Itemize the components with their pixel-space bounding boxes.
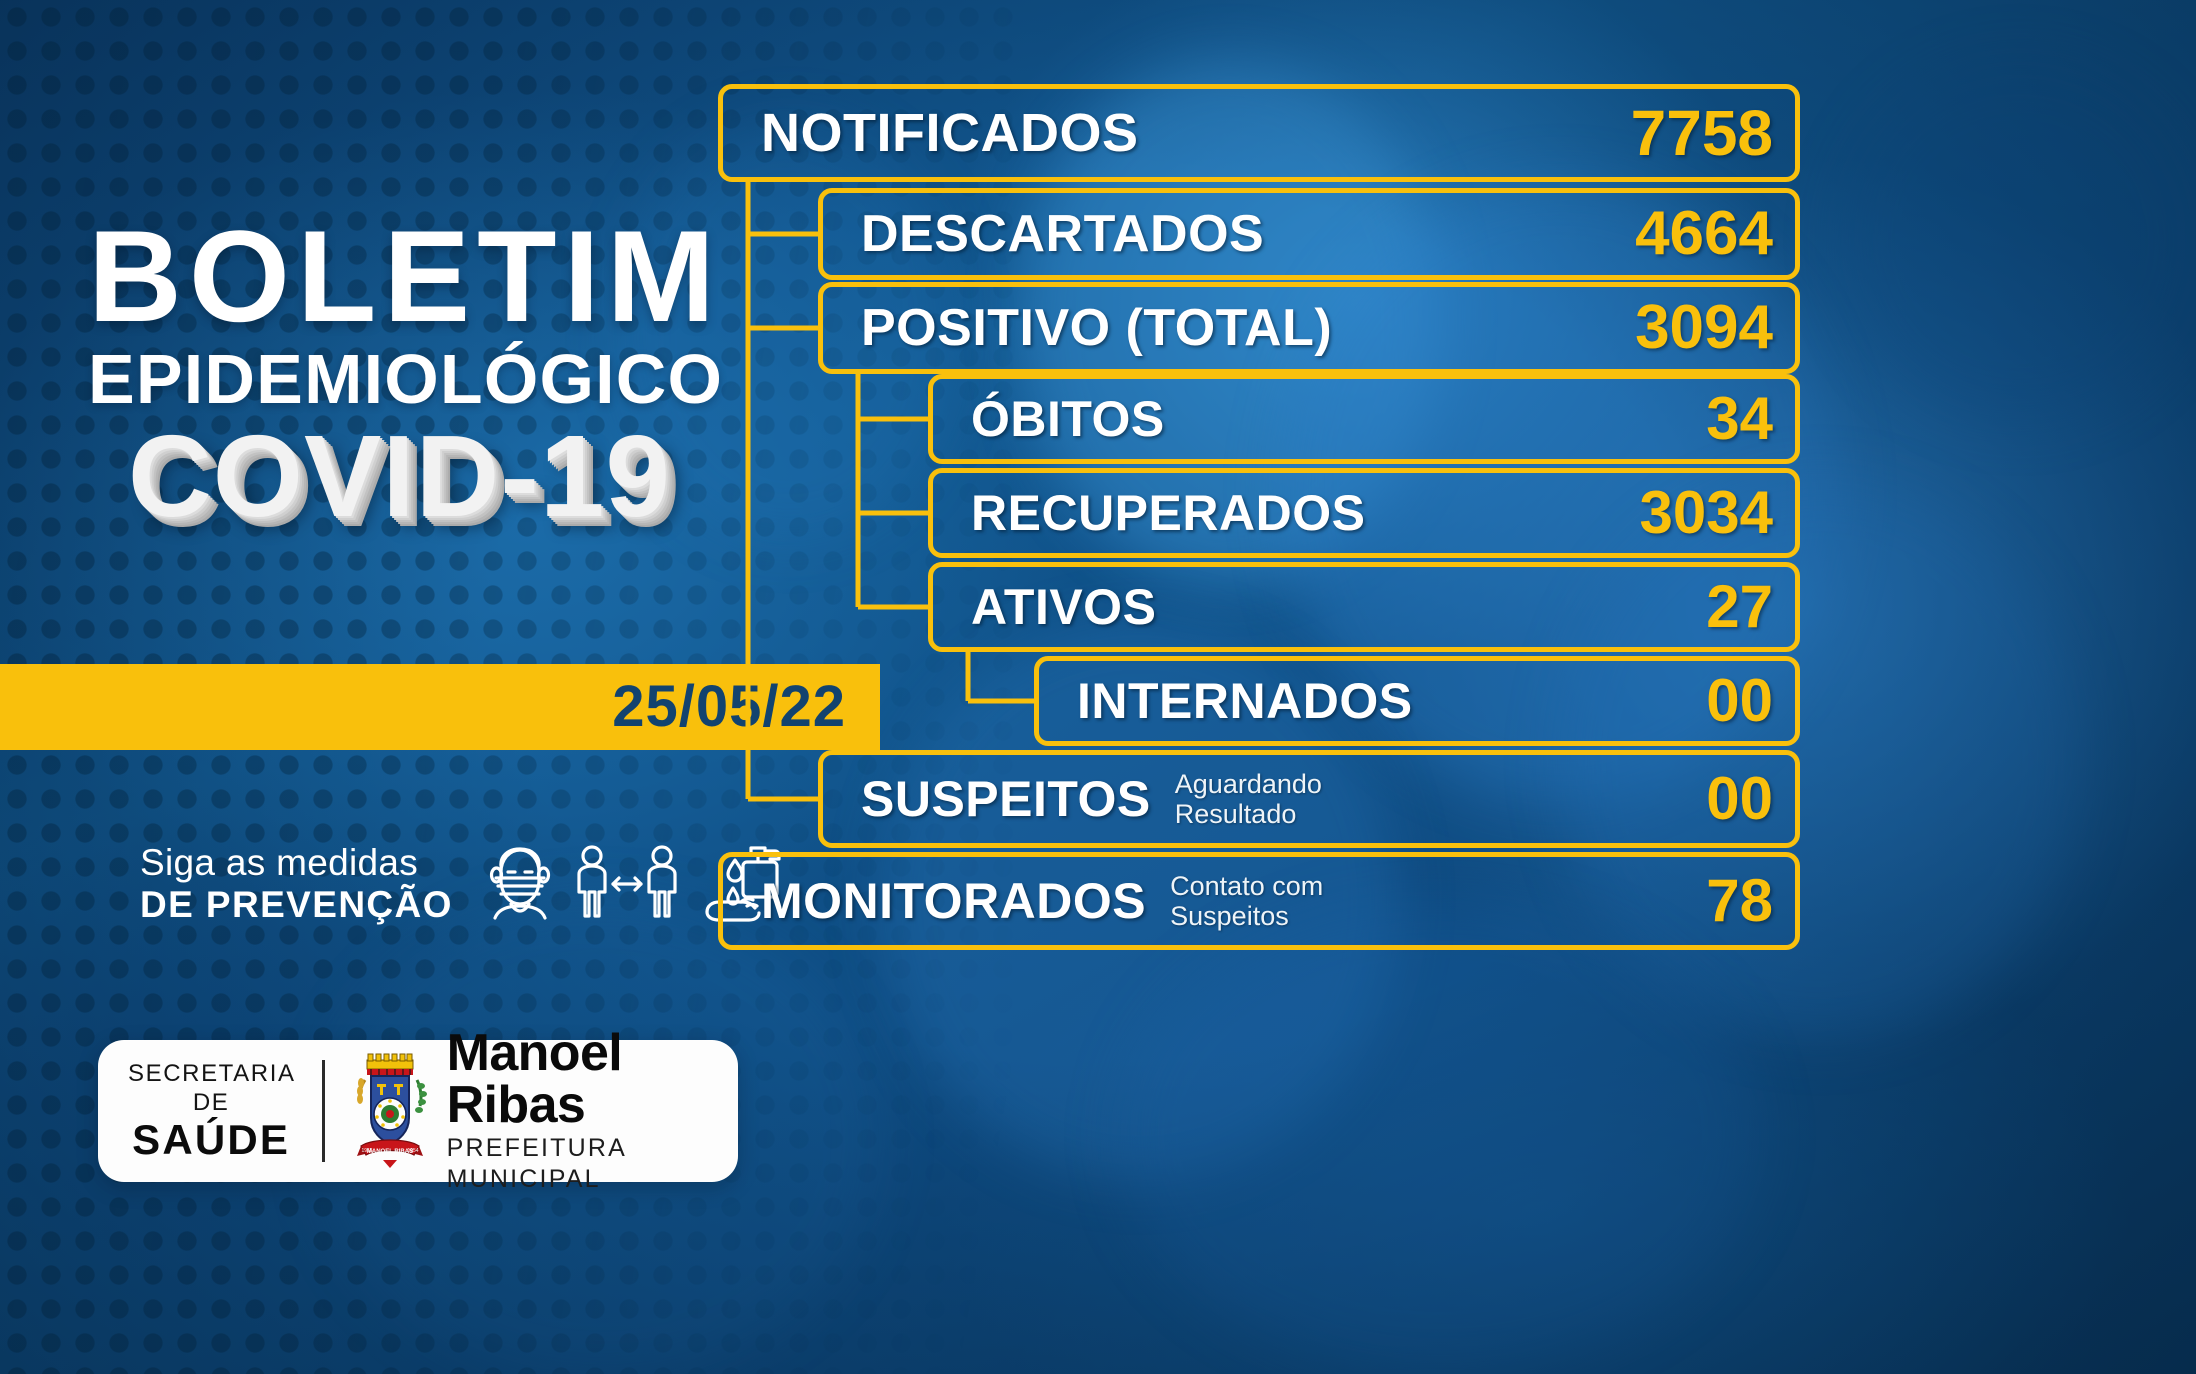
stat-row: RECUPERADOS3034 [928, 468, 1800, 558]
stat-value: 7758 [1631, 101, 1773, 165]
stat-value: 78 [1706, 871, 1773, 931]
logo-card: SECRETARIA DE SAÚDE [98, 1040, 738, 1182]
stat-value: 34 [1706, 389, 1773, 449]
secretaria-saude-logo: SECRETARIA DE SAÚDE [128, 1060, 318, 1162]
stat-label: POSITIVO (TOTAL) [861, 298, 1332, 358]
prevention-section: Siga as medidas DE PREVENÇÃO [140, 842, 787, 926]
stat-value: 27 [1706, 577, 1773, 637]
stat-value: 3034 [1640, 483, 1773, 543]
prevention-line2: DE PREVENÇÃO [140, 884, 453, 926]
stats-tree: NOTIFICADOS7758DESCARTADOS4664POSITIVO (… [700, 0, 2196, 1374]
stat-row: INTERNADOS00 [1034, 656, 1800, 746]
svg-text:1954: 1954 [407, 1148, 418, 1154]
prefeitura-name: Manoel Ribas [447, 1027, 714, 1131]
stat-row: ÓBITOS34 [928, 374, 1800, 464]
stat-row: DESCARTADOS4664 [818, 188, 1800, 280]
stat-label: SUSPEITOS [861, 770, 1151, 828]
face-mask-icon [481, 842, 559, 926]
logo-divider [322, 1060, 324, 1162]
stat-value: 4664 [1635, 203, 1773, 265]
stat-label: ATIVOS [971, 578, 1156, 636]
prevention-text: Siga as medidas DE PREVENÇÃO [140, 842, 453, 926]
stat-sublabel: Contato comSuspeitos [1170, 871, 1323, 931]
secretaria-label: SECRETARIA DE [128, 1060, 294, 1118]
prefeitura-logo: Manoel Ribas PREFEITURA MUNICIPAL [433, 1027, 714, 1196]
stat-row: MONITORADOSContato comSuspeitos78 [718, 852, 1800, 950]
stat-row: POSITIVO (TOTAL)3094 [818, 282, 1800, 374]
stat-label: RECUPERADOS [971, 484, 1365, 542]
crest-manoel-ribas-icon: MANOEL RIBAS 1955 1954 [347, 1052, 433, 1170]
stat-label: MONITORADOS [761, 872, 1146, 930]
saude-label: SAÚDE [128, 1118, 294, 1162]
stat-row: ATIVOS27 [928, 562, 1800, 652]
stat-label: NOTIFICADOS [761, 102, 1139, 164]
stat-value: 00 [1706, 769, 1773, 829]
stat-row: NOTIFICADOS7758 [718, 84, 1800, 182]
prevention-line1: Siga as medidas [140, 842, 453, 884]
stat-value: 3094 [1635, 297, 1773, 359]
stat-label: INTERNADOS [1077, 672, 1413, 730]
stat-label: ÓBITOS [971, 390, 1165, 448]
stat-row: SUSPEITOSAguardandoResultado00 [818, 750, 1800, 848]
stat-value: 00 [1706, 671, 1773, 731]
svg-text:1955: 1955 [361, 1148, 372, 1154]
svg-text:MANOEL RIBAS: MANOEL RIBAS [366, 1149, 412, 1155]
prefeitura-subtitle: PREFEITURA MUNICIPAL [447, 1133, 714, 1196]
stat-sublabel: AguardandoResultado [1175, 769, 1322, 829]
stat-label: DESCARTADOS [861, 204, 1264, 264]
social-distancing-icon [575, 842, 679, 926]
